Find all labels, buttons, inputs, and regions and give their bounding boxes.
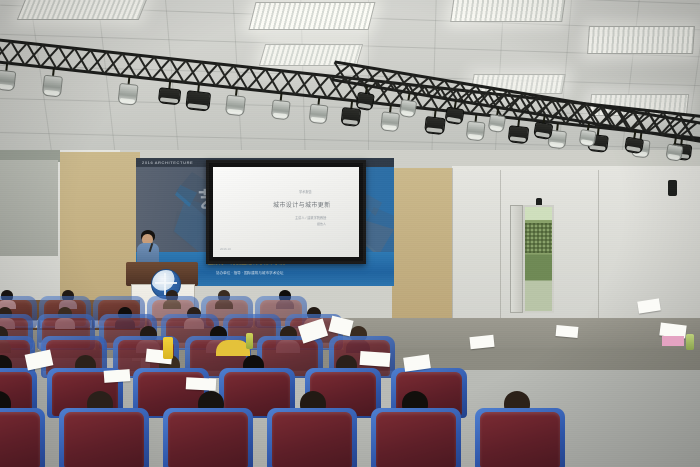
lamp-housing xyxy=(578,129,596,147)
auditorium-seat[interactable] xyxy=(168,412,248,467)
truss-web xyxy=(331,63,351,79)
slide-footer: 2016.10 xyxy=(220,247,231,251)
door-frame xyxy=(523,205,554,313)
wall-seam xyxy=(598,170,599,318)
water-bottle-green xyxy=(246,333,253,349)
truss-web xyxy=(584,105,604,121)
wall-seam xyxy=(500,170,501,320)
lamp-housing xyxy=(117,83,138,106)
par-can-light xyxy=(665,137,682,161)
lamp-lens xyxy=(227,109,242,115)
lamp-housing xyxy=(624,137,644,155)
truss-web xyxy=(521,95,541,111)
fresnel-light xyxy=(444,100,463,124)
projection-screen: 学术报告 城市设计与城市更新 主讲人 / 建筑学院教授 报告人 2016.10 xyxy=(206,160,366,264)
par-can-light xyxy=(579,122,596,146)
lamp-lens xyxy=(44,90,59,96)
auditorium-seat[interactable] xyxy=(272,412,352,467)
truss-web xyxy=(379,71,399,87)
lamp-lens xyxy=(160,97,178,103)
truss-web xyxy=(615,111,635,127)
handout-paper xyxy=(360,351,391,367)
lecture-hall-photo: 2016 ARCHITECTURE 艺 云 主办方：何镜堂建筑与城市学院 协办单… xyxy=(0,0,700,467)
truss-web xyxy=(679,121,699,137)
lamp-housing xyxy=(225,95,246,117)
par-can-light xyxy=(271,93,290,120)
lamp-lens xyxy=(0,84,13,89)
seat-backrest xyxy=(64,412,144,467)
lamp-housing xyxy=(0,70,16,92)
ceiling-panel-light xyxy=(249,2,376,30)
lamp-lens xyxy=(120,98,135,104)
handout-paper xyxy=(469,335,494,349)
slide-title: 城市设计与城市更新 xyxy=(273,200,331,209)
truss-web xyxy=(458,84,478,100)
truss-web xyxy=(489,90,509,106)
seat-backrest xyxy=(376,412,456,467)
par-can-light xyxy=(399,92,417,117)
door-leaf[interactable] xyxy=(510,205,523,313)
truss-web xyxy=(473,87,493,103)
lamp-housing xyxy=(185,90,211,111)
open-doorway[interactable] xyxy=(523,205,554,313)
auditorium-seat[interactable] xyxy=(376,412,456,467)
fresnel-light xyxy=(355,85,374,110)
truss-web xyxy=(600,108,620,124)
seat-backrest xyxy=(168,412,248,467)
lamp-lens xyxy=(447,117,461,123)
slide-byline: 报告人 xyxy=(317,222,326,226)
lamp-lens xyxy=(581,139,593,145)
truss-web xyxy=(536,98,556,114)
lamp-housing xyxy=(158,87,182,105)
lamp-lens xyxy=(401,110,413,116)
truss-web xyxy=(426,79,446,95)
par-can-light xyxy=(118,76,138,105)
slide-subtitle: 主讲人 / 建筑学院教授 xyxy=(295,215,326,220)
auditorium-seat[interactable] xyxy=(480,412,560,467)
lamp-lens xyxy=(311,117,325,122)
lamp-lens xyxy=(187,103,207,109)
water-bottle-yellow xyxy=(163,337,173,359)
lamp-housing xyxy=(533,121,553,140)
par-can-light xyxy=(488,107,506,132)
lamp-housing xyxy=(487,114,506,133)
fresnel-light xyxy=(533,114,552,138)
banner-top-text: 2016 ARCHITECTURE xyxy=(142,160,193,165)
lamp-lens xyxy=(273,113,287,118)
lamp-lens xyxy=(490,125,502,131)
truss-web xyxy=(505,92,525,108)
yellow-jacket-person xyxy=(216,340,250,356)
ceiling-panel-light xyxy=(17,0,150,20)
lamp-housing xyxy=(665,143,683,161)
seat-backrest xyxy=(272,412,352,467)
truss-web xyxy=(363,69,383,85)
truss-web xyxy=(442,82,462,98)
lamp-housing xyxy=(271,99,291,120)
truss-web xyxy=(631,113,651,129)
lamp-housing xyxy=(444,107,464,126)
truss-web xyxy=(410,76,430,92)
wall-white-right xyxy=(452,166,700,324)
par-can-light xyxy=(0,63,15,91)
ceiling-panel-light xyxy=(587,26,695,54)
lamp-housing xyxy=(399,99,418,118)
water-bottle-green xyxy=(686,334,694,350)
par-can-light xyxy=(225,88,245,116)
seat-backrest xyxy=(0,412,40,467)
handout-paper xyxy=(556,325,579,338)
slide-surface: 学术报告 城市设计与城市更新 主讲人 / 建筑学院教授 报告人 2016.10 xyxy=(213,167,359,257)
speaker-person xyxy=(137,230,159,266)
auditorium-seat[interactable] xyxy=(0,412,40,467)
lamp-housing xyxy=(42,75,63,98)
truss-web xyxy=(347,66,367,82)
truss-web xyxy=(394,74,414,90)
lamp-lens xyxy=(358,103,371,109)
fresnel-light xyxy=(158,80,180,104)
auditorium-seat[interactable] xyxy=(64,412,144,467)
handout-paper xyxy=(186,377,217,391)
wall-screenboard-left xyxy=(0,160,58,256)
fresnel-light xyxy=(624,130,643,153)
fresnel-light xyxy=(185,83,210,110)
truss-web xyxy=(552,100,572,116)
wall-tan-center xyxy=(392,168,454,318)
ceiling-panel-light xyxy=(450,0,566,22)
par-can-light xyxy=(42,68,62,97)
pink-notebook xyxy=(662,336,684,346)
lamp-lens xyxy=(667,154,679,160)
truss-web xyxy=(663,119,683,135)
lamp-lens xyxy=(626,146,640,152)
truss-web xyxy=(647,116,667,132)
wall-seam xyxy=(452,168,453,320)
truss-web xyxy=(568,103,588,119)
lamp-housing xyxy=(355,92,375,112)
lamp-lens xyxy=(535,132,549,138)
banner-subtext: 协办单位 · 指导 · 国际建筑与城市学术论坛 xyxy=(216,271,283,276)
handout-paper xyxy=(104,369,131,383)
seat-backrest xyxy=(480,412,560,467)
slide-small-top: 学术报告 xyxy=(299,189,312,194)
